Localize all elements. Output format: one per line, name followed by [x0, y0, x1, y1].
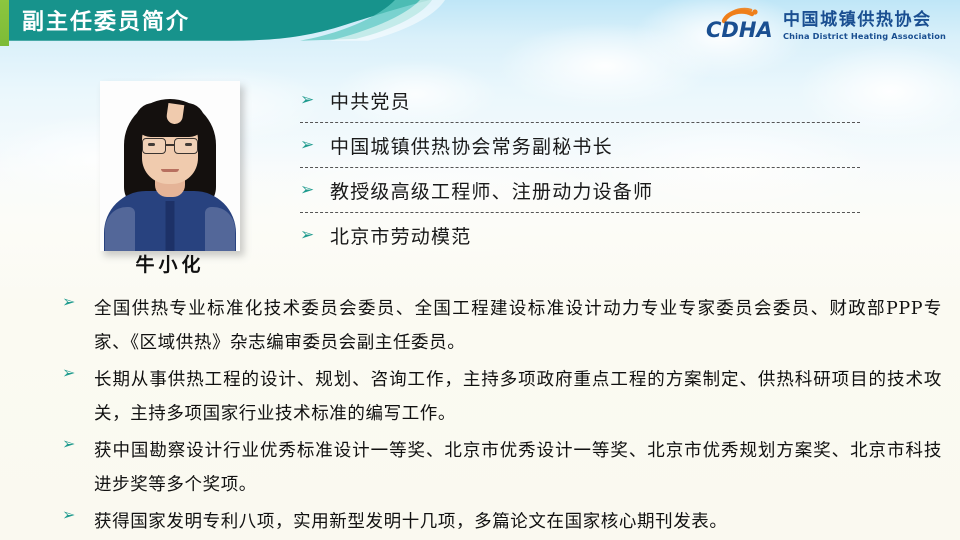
credential-text: 中国城镇供热协会常务副秘书长 [330, 132, 613, 159]
list-item: ➢ 全国供热专业标准化技术委员会委员、全国工程建设标准设计动力专业专家委员会委员… [62, 292, 942, 360]
portrait-sleeve-left [105, 207, 135, 251]
title-accent-bar [0, 0, 9, 46]
profile-name: 牛小化 [100, 250, 240, 277]
glasses-lens-left [142, 138, 166, 154]
logo-text-block: 中国城镇供热协会 China District Heating Associat… [783, 12, 946, 40]
list-item: ➢ 中国城镇供热协会常务副秘书长 [300, 123, 860, 168]
portrait-glasses [142, 138, 198, 153]
credential-list: ➢ 中共党员 ➢ 中国城镇供热协会常务副秘书长 ➢ 教授级高级工程师、注册动力设… [300, 78, 860, 257]
bullet-arrow-icon: ➢ [300, 182, 330, 199]
glasses-lens-right [174, 138, 198, 154]
title-bar: 副主任委员简介 [0, 0, 520, 52]
bullet-arrow-icon: ➢ [62, 292, 94, 310]
logo-name-cn: 中国城镇供热协会 [783, 12, 946, 29]
bullet-arrow-icon: ➢ [300, 227, 330, 244]
credential-text: 中共党员 [330, 87, 411, 114]
svg-text:CDHA: CDHA [706, 18, 773, 42]
bullet-arrow-icon: ➢ [62, 434, 94, 452]
achievement-text: 长期从事供热工程的设计、规划、咨询工作，主持多项政府重点工程的方案制定、供热科研… [94, 363, 942, 431]
portrait-placket [166, 201, 175, 251]
portrait-mouth [161, 169, 179, 172]
logo-name-en: China District Heating Association [783, 32, 946, 40]
portrait-canvas [100, 81, 240, 251]
bullet-arrow-icon: ➢ [62, 363, 94, 381]
list-item: ➢ 北京市劳动模范 [300, 213, 860, 257]
list-item: ➢ 教授级高级工程师、注册动力设备师 [300, 168, 860, 213]
portrait-photo [100, 81, 240, 251]
credential-text: 教授级高级工程师、注册动力设备师 [330, 177, 653, 204]
achievement-text: 获得国家发明专利八项，实用新型发明十几项，多篇论文在国家核心期刊发表。 [94, 505, 942, 539]
list-item: ➢ 获得国家发明专利八项，实用新型发明十几项，多篇论文在国家核心期刊发表。 [62, 505, 942, 539]
cdha-logo-icon: CDHA [704, 7, 776, 45]
achievement-list: ➢ 全国供热专业标准化技术委员会委员、全国工程建设标准设计动力专业专家委员会委员… [62, 292, 942, 540]
achievement-text: 全国供热专业标准化技术委员会委员、全国工程建设标准设计动力专业专家委员会委员、财… [94, 292, 942, 360]
list-item: ➢ 中共党员 [300, 78, 860, 123]
list-item: ➢ 长期从事供热工程的设计、规划、咨询工作，主持多项政府重点工程的方案制定、供热… [62, 363, 942, 431]
page-title: 副主任委员简介 [22, 6, 190, 40]
bullet-arrow-icon: ➢ [62, 505, 94, 523]
slide-root: 副主任委员简介 CDHA 中国城镇供热协会 China District Hea… [0, 0, 960, 540]
list-item: ➢ 获中国勘察设计行业优秀标准设计一等奖、北京市优秀设计一等奖、北京市优秀规划方… [62, 434, 942, 502]
bullet-arrow-icon: ➢ [300, 137, 330, 154]
bullet-arrow-icon: ➢ [300, 92, 330, 109]
credential-text: 北京市劳动模范 [330, 222, 471, 249]
achievement-text: 获中国勘察设计行业优秀标准设计一等奖、北京市优秀设计一等奖、北京市优秀规划方案奖… [94, 434, 942, 502]
organization-logo: CDHA 中国城镇供热协会 China District Heating Ass… [704, 5, 946, 47]
